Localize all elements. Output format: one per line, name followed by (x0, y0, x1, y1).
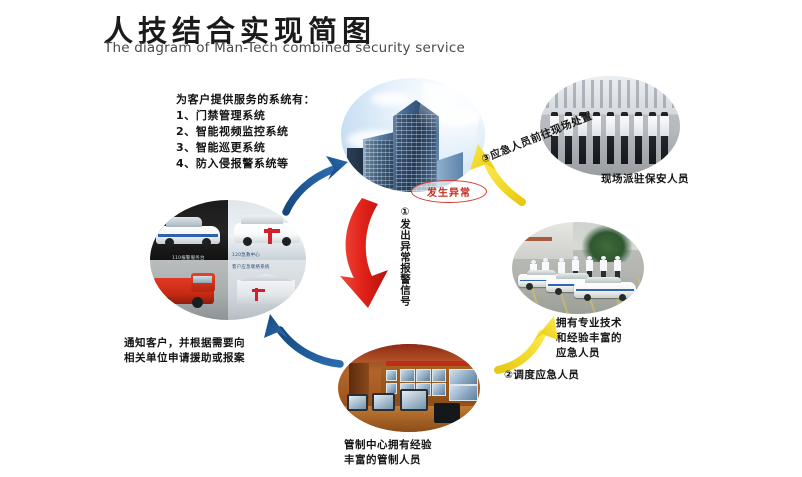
control-center-caption: 管制中心拥有经验 丰富的管制人员 (344, 438, 432, 468)
node-photo-control-center (338, 344, 480, 432)
abnormal-status-label: 发生异常 (427, 184, 471, 199)
diagram-canvas: 人技结合实现简图 The diagram of Man-Tech combine… (0, 0, 802, 477)
node-photo-patrol-cars (512, 222, 644, 314)
guards-caption: 现场派驻保安人员 (601, 172, 689, 187)
emergency-micro-label-110: 110报警服务台 (172, 255, 205, 261)
systems-item-4: 4、防入侵报警系统等 (176, 156, 289, 172)
flow-label-step1: ①发出异常报警信号 (394, 206, 410, 307)
page-subtitle: The diagram of Man-Tech combined securit… (104, 40, 465, 56)
emergency-micro-label-client: 客户应急联络系统 (232, 264, 270, 270)
systems-item-2: 2、智能视频监控系统 (176, 124, 289, 140)
systems-heading: 为客户提供服务的系统有： (176, 92, 315, 108)
systems-item-1: 1、门禁管理系统 (176, 108, 265, 124)
flow-label-step2: ②调度应急人员 (504, 368, 579, 383)
emergency-units-caption: 通知客户，并根据需要向 相关单位申请援助或报案 (124, 336, 245, 366)
arrow-red-alarm-signal (338, 196, 398, 314)
systems-item-3: 3、智能巡更系统 (176, 140, 265, 156)
emergency-micro-label-120: 120急救中心 (232, 252, 260, 258)
arrow-blue-to-emergency-units (262, 312, 344, 374)
